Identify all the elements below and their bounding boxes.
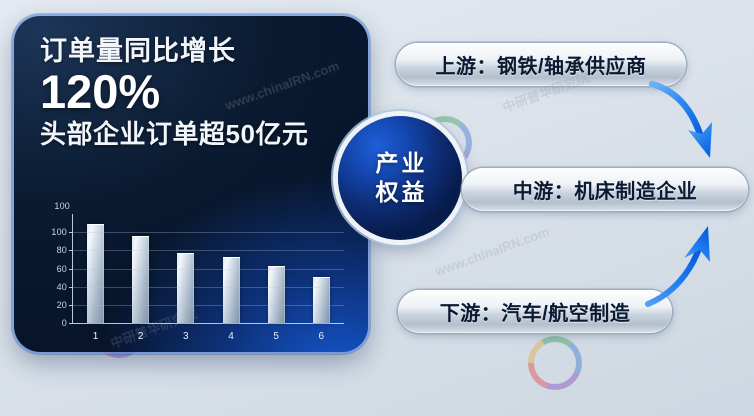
chart-xtick-label: 6 bbox=[319, 331, 325, 342]
chart-gridline bbox=[73, 232, 344, 233]
chart-tick-mark bbox=[69, 232, 73, 233]
chart-gridline bbox=[73, 287, 344, 288]
chart-bar bbox=[132, 236, 149, 323]
stats-panel-text: 订单量同比增长 120% 头部企业订单超50亿元 bbox=[14, 16, 368, 150]
chart-plot-area: 123456 100806040200 bbox=[72, 214, 344, 324]
stats-panel: 订单量同比增长 120% 头部企业订单超50亿元 100 123456 1008… bbox=[14, 16, 368, 352]
panel-headline: 订单量同比增长 bbox=[40, 36, 368, 66]
chart-ytick-label: 80 bbox=[57, 245, 67, 255]
panel-big-number: 120% bbox=[40, 68, 368, 117]
chart-gridline bbox=[73, 269, 344, 270]
watermark-site: www.chinaIRN.com bbox=[433, 224, 551, 279]
watermark-text: www.chinaIRN.com bbox=[433, 224, 551, 279]
chart-bar bbox=[177, 253, 194, 323]
hub-label-line1: 产业 bbox=[373, 150, 428, 177]
chart-xtick-label: 3 bbox=[183, 331, 189, 342]
arrow-down-icon bbox=[636, 78, 746, 178]
chart-tick-mark bbox=[69, 269, 73, 270]
chain-pill-midstream[interactable]: 中游：机床制造企业 bbox=[462, 168, 748, 211]
chart-tick-mark bbox=[69, 250, 73, 251]
chart-ytick-label: 20 bbox=[57, 300, 67, 310]
chain-pill-upstream[interactable]: 上游：钢铁/轴承供应商 bbox=[396, 43, 686, 86]
hub-label-line2: 权益 bbox=[373, 179, 428, 206]
chart-tick-mark bbox=[69, 323, 73, 324]
chart-bar bbox=[87, 224, 104, 323]
chart-xtick-label: 2 bbox=[138, 331, 144, 342]
chart-ytick-label: 60 bbox=[57, 264, 67, 274]
chart-ytick-label: 0 bbox=[62, 318, 67, 328]
chart-bar bbox=[268, 266, 285, 323]
chart-gridline bbox=[73, 305, 344, 306]
chart-tick-mark bbox=[69, 305, 73, 306]
chart-xtick-label: 5 bbox=[273, 331, 279, 342]
chart-xtick-label: 4 bbox=[228, 331, 234, 342]
chart-tick-mark bbox=[69, 287, 73, 288]
chart-bar bbox=[313, 277, 330, 323]
chart-bar bbox=[223, 257, 240, 323]
chart-ytick-label: 100 bbox=[51, 227, 67, 237]
chart-xtick-label: 1 bbox=[93, 331, 99, 342]
watermark-ring bbox=[528, 336, 582, 390]
bar-chart: 100 123456 100806040200 bbox=[36, 204, 346, 346]
chart-gridline bbox=[73, 250, 344, 251]
chart-ytick-top: 100 bbox=[36, 201, 70, 211]
chain-pill-downstream[interactable]: 下游：汽车/航空制造 bbox=[398, 290, 672, 333]
infographic-canvas: 订单量同比增长 120% 头部企业订单超50亿元 100 123456 1008… bbox=[0, 0, 754, 416]
chart-ytick-label: 40 bbox=[57, 282, 67, 292]
panel-subline: 头部企业订单超50亿元 bbox=[40, 120, 368, 150]
